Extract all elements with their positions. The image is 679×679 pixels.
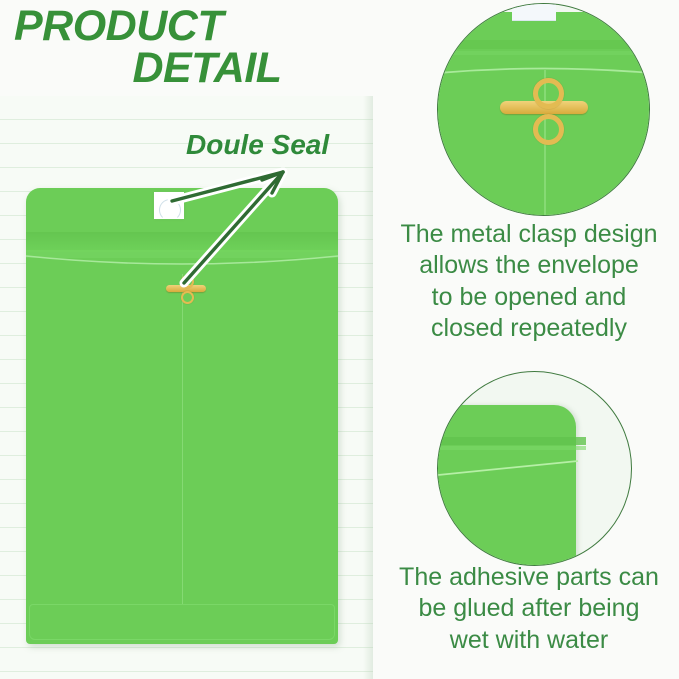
- feature2-line-3: wet with water: [380, 625, 678, 656]
- feature2-line-2: be glued after being: [380, 593, 678, 624]
- inset2-seam-band-light: [438, 446, 586, 450]
- inset1-clasp-ring-top: [533, 78, 564, 109]
- clasp-ring-top: [181, 275, 194, 288]
- feature1-line-2: allows the envelope: [380, 250, 678, 281]
- envelope-string-tab: [154, 192, 184, 219]
- clasp-ring-bottom: [181, 291, 194, 304]
- inset2-seam-band: [438, 437, 586, 445]
- callout-doule-seal-label: Doule Seal: [186, 129, 329, 161]
- feature2-line-1: The adhesive parts can: [380, 562, 678, 593]
- feature1-line-1: The metal clasp design: [380, 219, 678, 250]
- inset1-metal-clasp: [500, 76, 588, 138]
- page-title: PRODUCT DETAIL: [14, 6, 374, 89]
- title-line-2: DETAIL: [14, 48, 374, 90]
- inset2-envelope-fill: [437, 405, 576, 566]
- feature1-line-3: to be opened and: [380, 282, 678, 313]
- tab-arc-icon: [159, 199, 181, 221]
- envelope-illustration: [26, 188, 338, 644]
- inset2-diagonal-seam: [438, 457, 598, 479]
- inset1-seam-band-light: [438, 51, 649, 55]
- envelope-flap-seam: [26, 250, 338, 274]
- inset1-seam-band: [438, 40, 649, 49]
- feature-text-metal-clasp: The metal clasp design allows the envelo…: [380, 219, 678, 344]
- envelope-bottom-flap: [29, 604, 335, 640]
- product-detail-infographic: PRODUCT DETAIL Doule Seal: [0, 0, 679, 679]
- inset1-clasp-ring-bottom: [533, 114, 564, 145]
- title-line-1: PRODUCT: [14, 6, 374, 48]
- inset1-string-tab: [512, 4, 556, 21]
- inset-circle-metal-clasp: [437, 3, 650, 216]
- envelope-center-crease: [182, 274, 183, 604]
- feature-text-adhesive: The adhesive parts can be glued after be…: [380, 562, 678, 656]
- paper-edge-shadow: [363, 96, 373, 679]
- envelope-flap-band: [26, 232, 338, 252]
- feature1-line-4: closed repeatedly: [380, 313, 678, 344]
- metal-clasp: [166, 273, 206, 303]
- inset-circle-adhesive-edge: [437, 371, 632, 566]
